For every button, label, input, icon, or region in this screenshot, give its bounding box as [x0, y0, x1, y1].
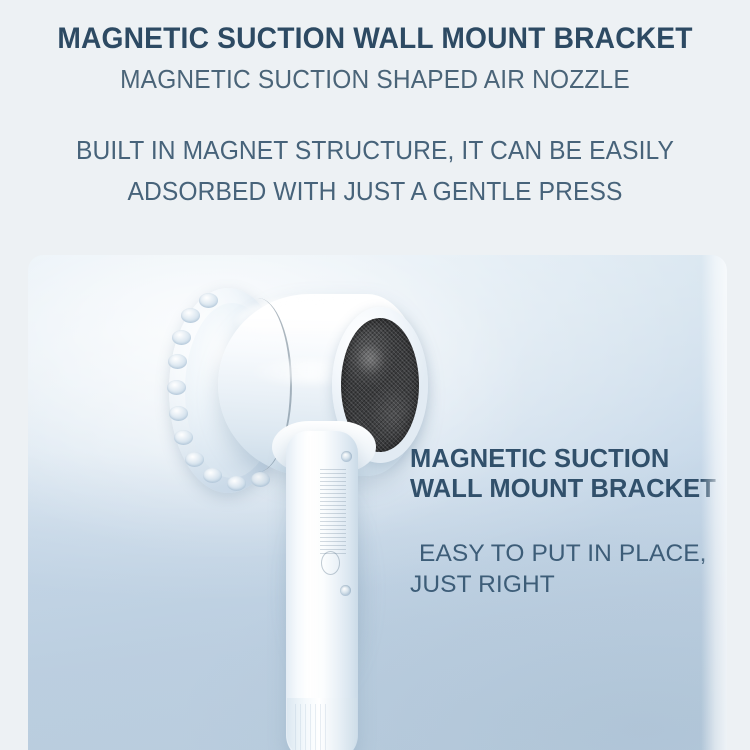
page-title: MAGNETIC SUCTION WALL MOUNT BRACKET	[17, 24, 733, 54]
product-photo-panel: MAGNETIC SUCTION WALL MOUNT BRACKET EASY…	[28, 255, 727, 750]
panel-right-edge-glare	[701, 255, 727, 750]
overlay-strong-line-1: MAGNETIC SUCTION	[410, 444, 710, 474]
handle-screw-lower	[340, 585, 351, 596]
mount-notch	[172, 330, 191, 345]
header-block: MAGNETIC SUCTION WALL MOUNT BRACKET MAGN…	[0, 24, 750, 93]
mount-notch	[203, 468, 222, 483]
handle-bottom-cuff	[287, 698, 357, 750]
mount-notch	[181, 308, 200, 323]
overlay-strong-line-2: WALL MOUNT BRACKET	[410, 474, 710, 504]
overlay-soft-block: EASY TO PUT IN PLACE, JUST RIGHT	[410, 538, 710, 600]
overlay-soft-line-2: JUST RIGHT	[410, 571, 555, 598]
handle-rating-label	[320, 469, 346, 555]
photo-overlay-text: MAGNETIC SUCTION WALL MOUNT BRACKET EASY…	[410, 444, 710, 600]
handle-screw-upper	[341, 451, 352, 462]
page-subtitle: MAGNETIC SUCTION SHAPED AIR NOZZLE	[15, 68, 735, 94]
handle-certification-mark	[321, 551, 340, 575]
lede-line-2: ADSORBED WITH JUST A GENTLE PRESS	[13, 180, 737, 206]
mount-notch	[185, 452, 204, 467]
mount-notch	[169, 406, 188, 421]
cuff-ribbing	[295, 704, 329, 750]
product-marketing-image: MAGNETIC SUCTION WALL MOUNT BRACKET MAGN…	[0, 0, 750, 750]
lede-block: BUILT IN MAGNET STRUCTURE, IT CAN BE EAS…	[0, 139, 750, 205]
mount-notch	[227, 476, 246, 491]
overlay-soft-line-1: EASY TO PUT IN PLACE,	[410, 538, 710, 569]
mount-notch	[168, 354, 187, 369]
mount-notch	[251, 472, 270, 487]
mount-notch	[174, 430, 193, 445]
mount-notch	[167, 380, 186, 395]
lede-line-1: BUILT IN MAGNET STRUCTURE, IT CAN BE EAS…	[13, 139, 737, 165]
mount-notch	[199, 293, 218, 308]
mesh-reflection	[350, 337, 391, 383]
